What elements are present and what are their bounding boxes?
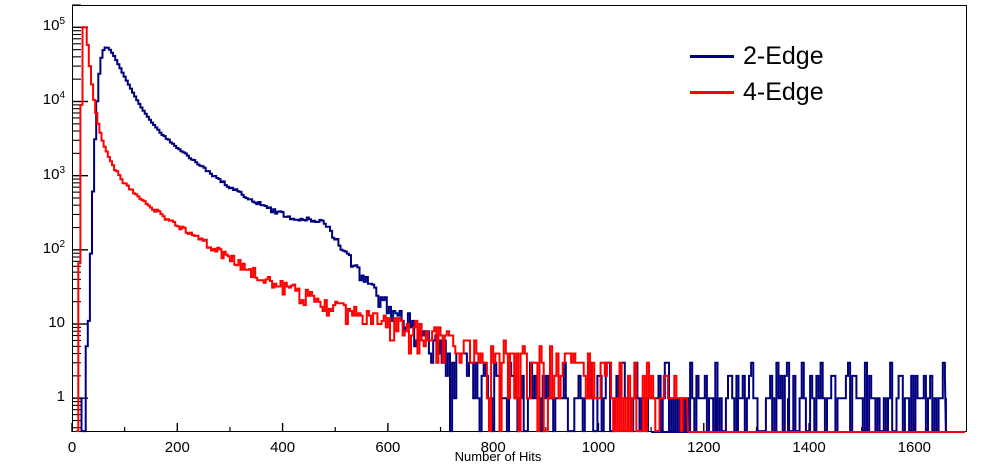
y-tick-label: 105 bbox=[10, 18, 65, 33]
legend-swatch-4-edge bbox=[690, 91, 734, 94]
legend-item-4-edge[interactable]: 4-Edge bbox=[690, 74, 920, 110]
y-tick-label: 102 bbox=[10, 241, 65, 256]
y-tick-label: 103 bbox=[10, 167, 65, 182]
legend-label-2-edge: 2-Edge bbox=[743, 44, 824, 69]
chart-legend: 2-Edge 4-Edge bbox=[690, 38, 920, 110]
y-tick-label: 10 bbox=[10, 315, 65, 330]
y-tick-label: 1 bbox=[10, 389, 65, 404]
x-axis-title: Number of Hits bbox=[0, 449, 996, 464]
legend-item-2-edge[interactable]: 2-Edge bbox=[690, 38, 920, 74]
legend-label-4-edge: 4-Edge bbox=[743, 80, 824, 105]
chart-canvas: 110102103104105 020040060080010001200140… bbox=[0, 0, 996, 472]
y-tick-label: 104 bbox=[10, 92, 65, 107]
legend-swatch-2-edge bbox=[690, 55, 734, 58]
series-line-4-edge bbox=[76, 27, 688, 432]
